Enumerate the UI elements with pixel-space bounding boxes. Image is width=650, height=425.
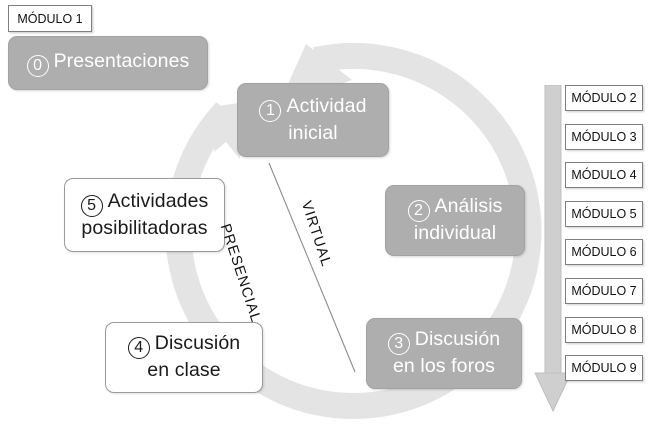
step-2-number: 2 [408, 200, 430, 222]
module-chip-3[interactable]: MÓDULO 3 [565, 124, 643, 150]
step-4-line-1: 4Discusión [128, 332, 240, 359]
step-5-text-2: posibilitadoras [81, 217, 207, 240]
step-1-text-2: inicial [288, 122, 337, 145]
step-4-text-1: Discusión [155, 332, 240, 354]
modulo-1-tag: MÓDULO 1 [8, 5, 92, 32]
module-chip-8[interactable]: MÓDULO 8 [565, 317, 643, 343]
step-1-actividad-inicial[interactable]: 1Actividad inicial [237, 83, 389, 157]
module-chip-7[interactable]: MÓDULO 7 [565, 278, 643, 304]
step-0-line-1: 0Presentaciones [27, 50, 190, 77]
step-2-text-1: Análisis [435, 195, 503, 217]
step-2-text-2: individual [414, 222, 496, 245]
step-3-text-1: Discusión [415, 328, 500, 350]
presencial-virtual-divider [269, 163, 355, 372]
step-3-text-2: en los foros [393, 355, 495, 378]
step-0-number: 0 [27, 55, 49, 77]
module-column: MÓDULO 2 MÓDULO 3 MÓDULO 4 MÓDULO 5 MÓDU… [565, 85, 643, 394]
step-1-text-1: Actividad [286, 95, 366, 117]
module-chip-5[interactable]: MÓDULO 5 [565, 201, 643, 227]
step-3-discusion-foros[interactable]: 3Discusión en los foros [366, 318, 522, 389]
step-1-number: 1 [259, 100, 281, 122]
module-chip-2[interactable]: MÓDULO 2 [565, 85, 643, 111]
step-3-number: 3 [388, 333, 410, 355]
module-chip-6[interactable]: MÓDULO 6 [565, 239, 643, 265]
step-5-text-1: Actividades [108, 190, 209, 212]
step-2-analisis-individual[interactable]: 2Análisis individual [385, 185, 525, 256]
step-4-discusion-clase[interactable]: 4Discusión en clase [105, 322, 263, 393]
step-4-number: 4 [128, 337, 150, 359]
step-5-line-1: 5Actividades [81, 190, 209, 217]
module-chip-9[interactable]: MÓDULO 9 [565, 355, 643, 381]
step-0-text-1: Presentaciones [54, 50, 190, 72]
module-chip-4[interactable]: MÓDULO 4 [565, 162, 643, 188]
step-5-number: 5 [81, 195, 103, 217]
step-1-line-1: 1Actividad [259, 95, 366, 122]
modulo-1-label: MÓDULO 1 [17, 12, 82, 26]
step-0-presentaciones[interactable]: 0Presentaciones [8, 36, 208, 90]
step-2-line-1: 2Análisis [408, 195, 503, 222]
step-4-text-2: en clase [147, 359, 220, 382]
step-5-actividades-posibilitadoras[interactable]: 5Actividades posibilitadoras [64, 178, 225, 252]
step-3-line-1: 3Discusión [388, 328, 500, 355]
diagram-canvas: MÓDULO 1 0Presentaciones 1Actividad inic… [0, 0, 650, 425]
